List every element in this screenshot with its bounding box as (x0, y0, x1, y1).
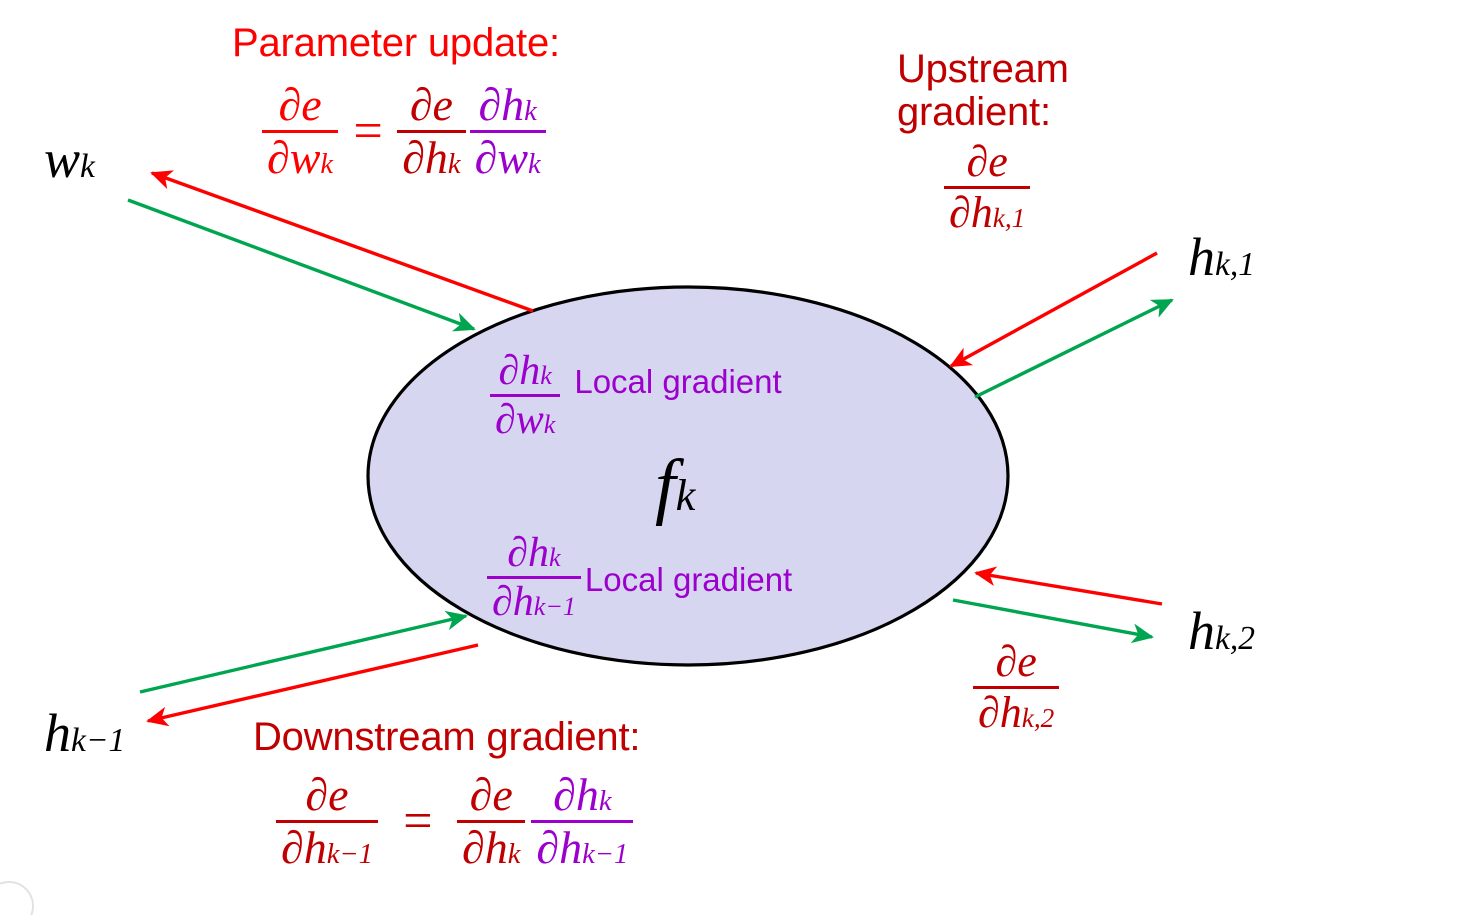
param-update-lhs-numerator: ∂e (262, 82, 338, 130)
downstream-equals-sign: = (396, 792, 439, 851)
param-update-rhs1-denominator: ∂hk (397, 130, 465, 182)
arrow-forward-node-to-hk1 (975, 300, 1172, 397)
node-local-gradient-bottom: ∂hk ∂hk−1 Local gradient (487, 532, 792, 624)
arrow-forward-node-to-hk2 (953, 600, 1152, 637)
diagram-canvas: Parameter update: ∂e ∂wk = ∂e ∂hk ∂hk ∂w… (0, 0, 1465, 915)
downstream-rhs2-numerator: ∂hk (531, 772, 633, 820)
upstream-gradient-2-fraction: ∂e ∂hk,2 (973, 640, 1059, 736)
param-update-lhs-denominator: ∂wk (262, 130, 338, 182)
upstream-gradient-fraction: ∂e ∂hk,1 (944, 140, 1030, 236)
param-update-rhs1-numerator: ∂e (397, 82, 465, 130)
local-gradient-bottom-caption: Local gradient (585, 561, 792, 599)
local-gradient-bottom-numerator: ∂hk (487, 532, 581, 576)
param-update-rhs-upstream: ∂e ∂hk (397, 82, 465, 182)
arrow-backward-node-to-wk (152, 173, 533, 311)
local-gradient-top-numerator: ∂hk (490, 350, 560, 394)
downstream-rhs1-denominator: ∂hk (457, 820, 525, 872)
upstream-gradient-2-fraction-wrap: ∂e ∂hk,2 (973, 640, 1059, 736)
upstream-gradient-2-denominator: ∂hk,2 (973, 686, 1059, 736)
label-h-k-2: hk,2 (1188, 600, 1255, 662)
param-update-rhs-local: ∂hk ∂wk (470, 82, 546, 182)
downstream-gradient-heading: Downstream gradient: (253, 716, 640, 759)
downstream-rhs1-numerator: ∂e (457, 772, 525, 820)
downstream-lhs-denominator: ∂hk−1 (276, 820, 378, 872)
downstream-rhs2-denominator: ∂hk−1 (531, 820, 633, 872)
param-update-rhs2-numerator: ∂hk (470, 82, 546, 130)
arrow-backward-hk1-to-node (951, 253, 1157, 366)
downstream-rhs-local: ∂hk ∂hk−1 (531, 772, 633, 872)
arrow-backward-hk2-to-node (976, 573, 1162, 604)
upstream-gradient-denominator: ∂hk,1 (944, 186, 1030, 236)
parameter-update-heading: Parameter update: (232, 22, 560, 65)
arrow-forward-hkm1-to-node (140, 616, 466, 692)
local-gradient-top-caption: Local gradient (574, 363, 781, 401)
param-update-lhs: ∂e ∂wk (262, 82, 338, 182)
arrow-layer (0, 0, 1465, 915)
label-w-k: wk (44, 128, 95, 190)
param-update-rhs2-denominator: ∂wk (470, 130, 546, 182)
upstream-gradient-2-numerator: ∂e (973, 640, 1059, 686)
upstream-gradient-heading-line2: gradient: (897, 91, 1069, 134)
label-h-k-minus-1: hk−1 (44, 702, 125, 764)
downstream-rhs-upstream: ∂e ∂hk (457, 772, 525, 872)
upstream-gradient-heading-line1: Upstream (897, 48, 1069, 91)
local-gradient-bottom-denominator: ∂hk−1 (487, 576, 581, 624)
node-function-label: fk (655, 444, 695, 529)
downstream-lhs-numerator: ∂e (276, 772, 378, 820)
local-gradient-top-denominator: ∂wk (490, 394, 560, 442)
upstream-gradient-numerator: ∂e (944, 140, 1030, 186)
node-local-gradient-top: ∂hk ∂wk Local gradient (490, 350, 782, 442)
param-update-equals-sign: = (346, 102, 389, 161)
arrow-backward-node-to-hkm1 (148, 645, 478, 721)
upstream-gradient-fraction-wrap: ∂e ∂hk,1 (944, 140, 1030, 236)
local-gradient-bottom-fraction: ∂hk ∂hk−1 (487, 532, 581, 624)
corner-arc-artifact (0, 881, 34, 915)
arrow-forward-wk-to-node (128, 200, 474, 329)
downstream-lhs: ∂e ∂hk−1 (276, 772, 378, 872)
local-gradient-top-fraction: ∂hk ∂wk (490, 350, 560, 442)
parameter-update-equation: ∂e ∂wk = ∂e ∂hk ∂hk ∂wk (262, 82, 546, 182)
downstream-gradient-equation: ∂e ∂hk−1 = ∂e ∂hk ∂hk ∂hk−1 (276, 772, 633, 872)
label-h-k-1: hk,1 (1188, 226, 1255, 288)
upstream-gradient-heading: Upstream gradient: (897, 48, 1069, 134)
